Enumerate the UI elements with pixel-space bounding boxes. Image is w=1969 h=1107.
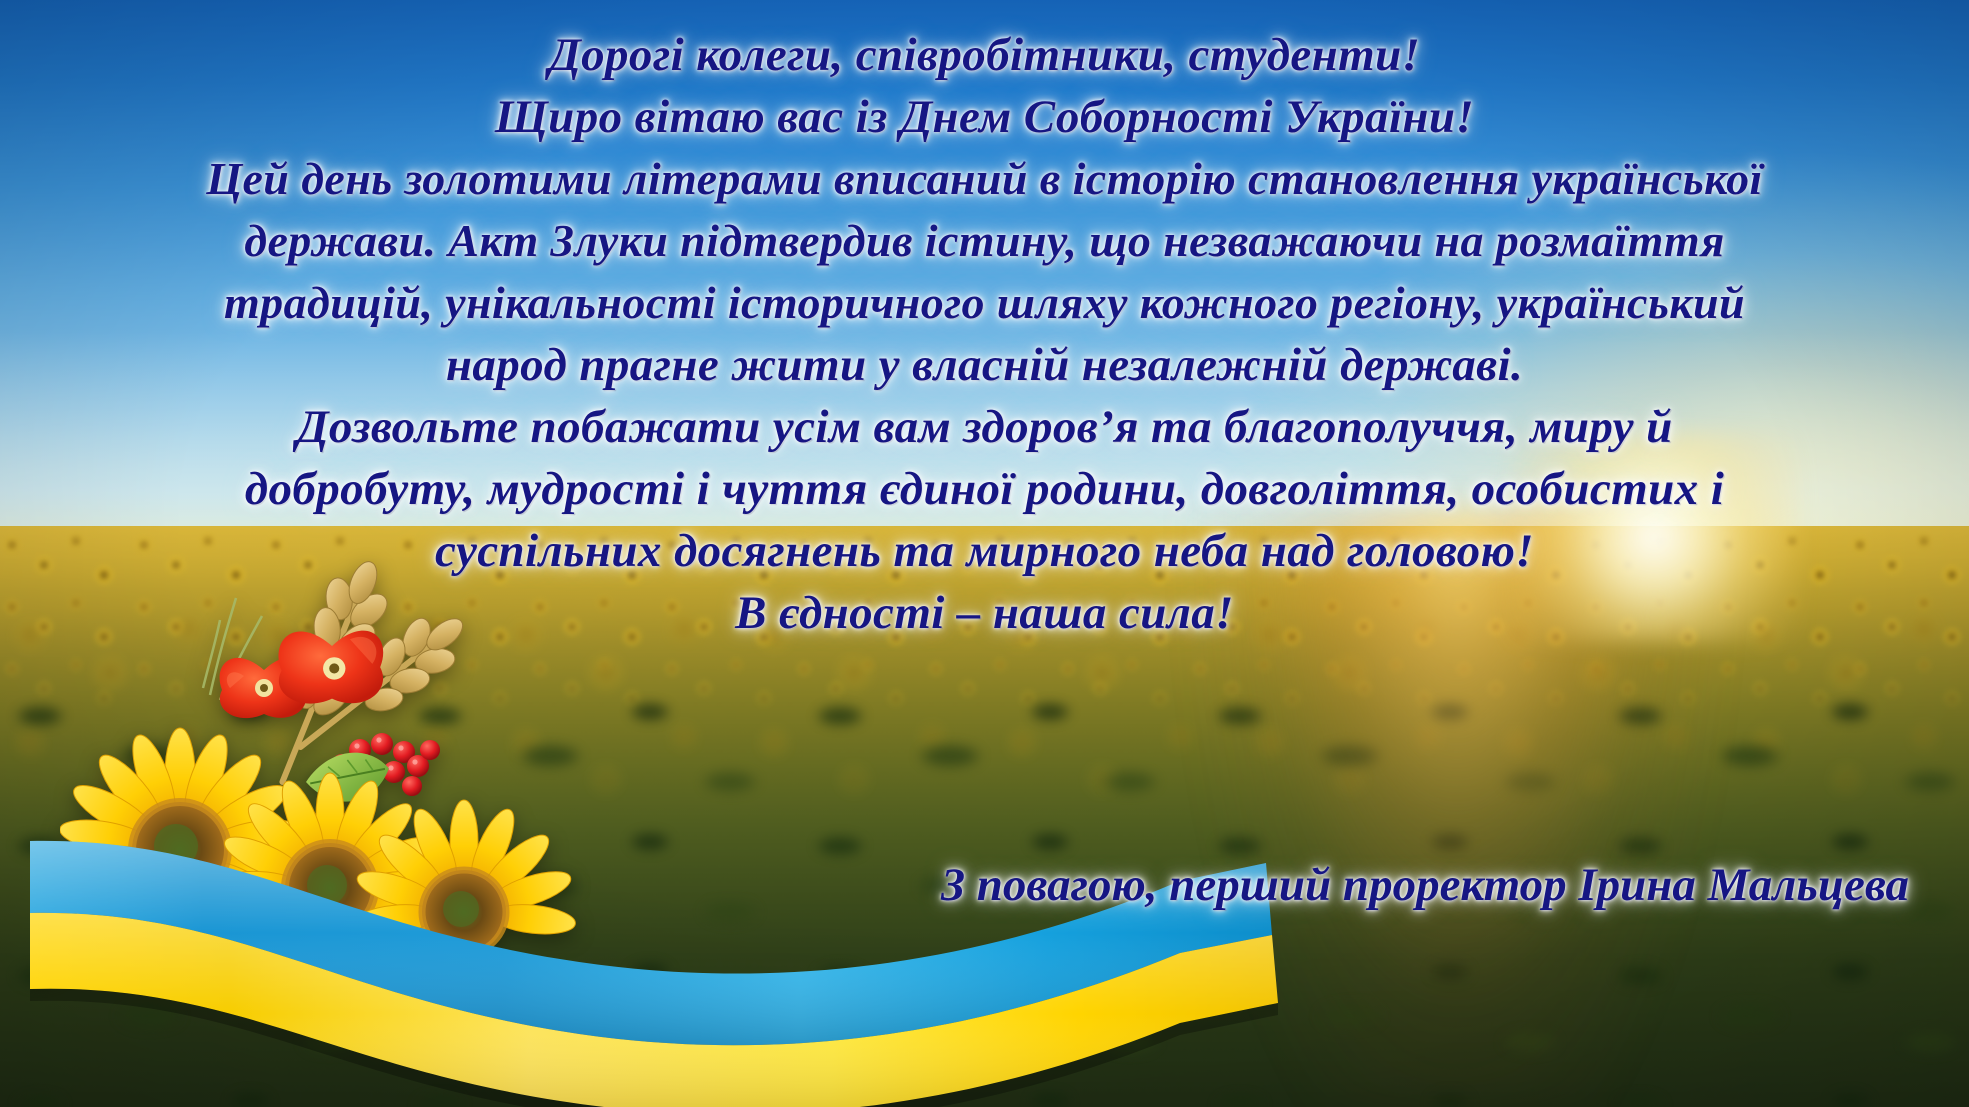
message-line-7: Дозвольте побажати усім вам здоров’я та … xyxy=(24,396,1945,458)
message-line-9: суспільних досягнень та мирного неба над… xyxy=(24,520,1945,582)
greeting-card: Дорогі колеги, співробітники, студенти! … xyxy=(0,0,1969,1107)
message-line-8: добробуту, мудрості і чуття єдиної родин… xyxy=(24,458,1945,520)
message-line-1: Дорогі колеги, співробітники, студенти! xyxy=(24,24,1945,86)
signature-line: З повагою, перший проректор Ірина Мальце… xyxy=(941,856,1909,914)
message-line-3: Цей день золотими літерами вписаний в іс… xyxy=(24,148,1945,210)
message-line-4: держави. Акт Злуки підтвердив істину, що… xyxy=(24,210,1945,272)
message-line-10: В єдності – наша сила! xyxy=(24,582,1945,644)
ukrainian-flag-ribbon xyxy=(0,807,1330,1107)
message-line-6: народ прагне жити у власній незалежній д… xyxy=(24,334,1945,396)
leaf-icon xyxy=(303,748,393,807)
greeting-message: Дорогі колеги, співробітники, студенти! … xyxy=(0,24,1969,644)
message-line-5: традицій, унікальності історичного шляху… xyxy=(24,272,1945,334)
message-line-2: Щиро вітаю вас із Днем Соборності Україн… xyxy=(24,86,1945,148)
